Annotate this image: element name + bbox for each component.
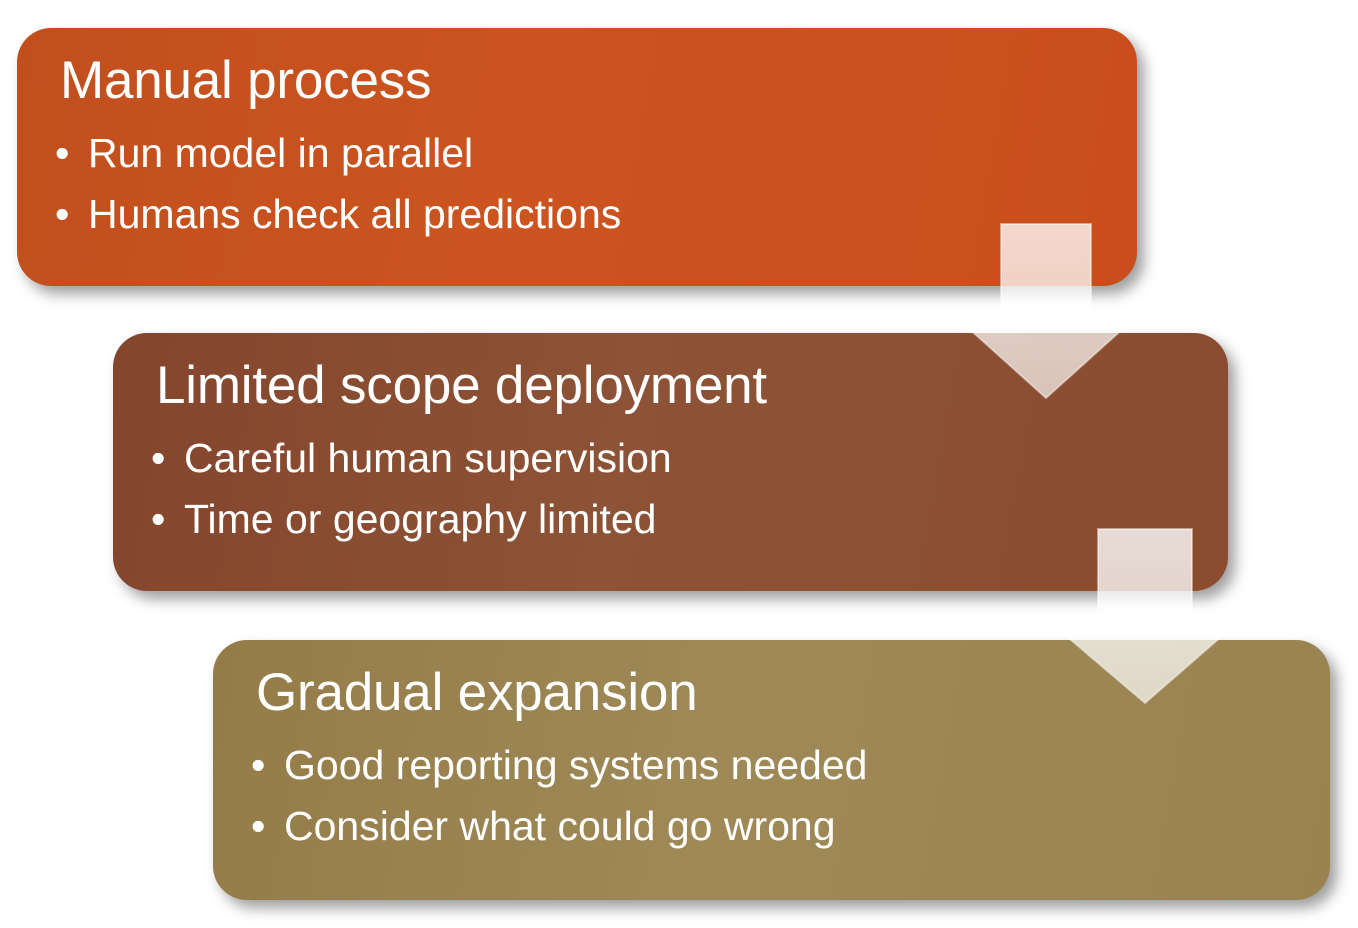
bullet-text: Careful human supervision — [184, 435, 672, 481]
list-item: •Careful human supervision — [148, 428, 1198, 488]
bullet-text: Humans check all predictions — [88, 191, 621, 237]
stage-box-gradual-expansion[interactable]: Gradual expansion •Good reporting system… — [213, 640, 1330, 900]
stage-bullet-list: •Careful human supervision •Time or geog… — [143, 428, 1198, 549]
bullet-dot-icon: • — [251, 735, 265, 795]
bullet-dot-icon: • — [55, 123, 69, 183]
stage-title: Limited scope deployment — [143, 357, 1198, 414]
list-item: •Time or geography limited — [148, 489, 1198, 549]
bullet-text: Time or geography limited — [184, 496, 656, 542]
stage-box-manual-process[interactable]: Manual process •Run model in parallel •H… — [17, 28, 1137, 286]
bullet-dot-icon: • — [151, 489, 165, 549]
stage-title: Manual process — [47, 52, 1107, 109]
bullet-text: Run model in parallel — [88, 130, 473, 176]
stage-bullet-list: •Run model in parallel •Humans check all… — [47, 123, 1107, 244]
bullet-text: Consider what could go wrong — [284, 803, 836, 849]
bullet-dot-icon: • — [55, 184, 69, 244]
list-item: •Consider what could go wrong — [248, 796, 1300, 856]
bullet-text: Good reporting systems needed — [284, 742, 867, 788]
stage-box-limited-scope-deployment[interactable]: Limited scope deployment •Careful human … — [113, 333, 1228, 591]
stage-bullet-list: •Good reporting systems needed •Consider… — [243, 735, 1300, 856]
stage-title: Gradual expansion — [243, 664, 1300, 721]
list-item: •Run model in parallel — [52, 123, 1107, 183]
list-item: •Good reporting systems needed — [248, 735, 1300, 795]
list-item: •Humans check all predictions — [52, 184, 1107, 244]
bullet-dot-icon: • — [151, 428, 165, 488]
diagram-canvas: Manual process •Run model in parallel •H… — [0, 0, 1358, 928]
bullet-dot-icon: • — [251, 796, 265, 856]
